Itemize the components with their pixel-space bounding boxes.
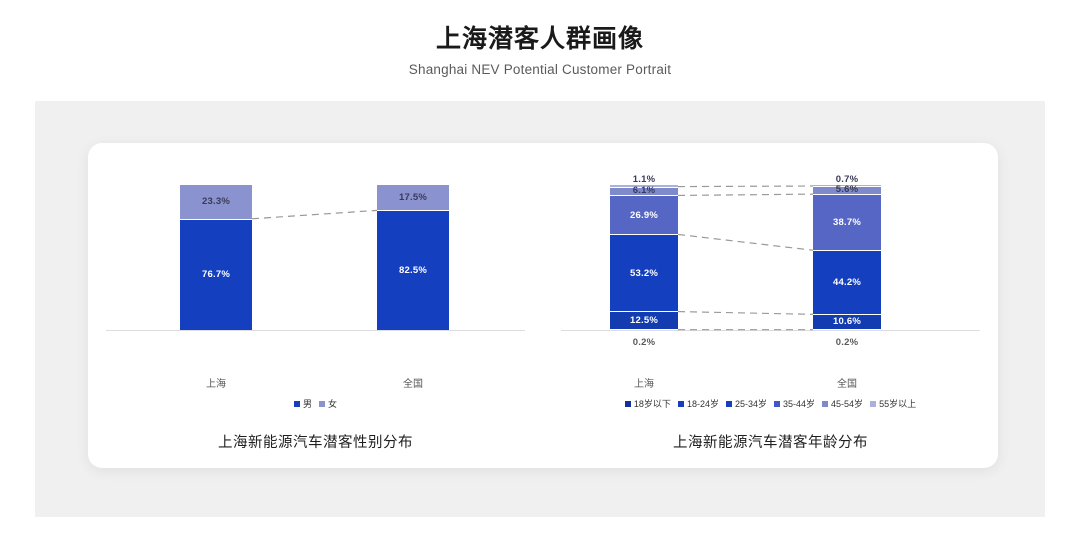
bar-segment-男[interactable]: 82.5% [377, 210, 449, 330]
legend-swatch-icon [726, 401, 732, 407]
x-axis-line [106, 330, 525, 331]
segment-value-label: 23.3% [202, 196, 230, 207]
legend-label: 35-44岁 [783, 397, 815, 410]
chart-age: 1.1%6.1%26.9%53.2%12.5%0.2%0.7%5.6%38.7%… [543, 143, 998, 468]
x-tick-上海: 上海 [206, 375, 226, 390]
page-header: 上海潜客人群画像 Shanghai NEV Potential Customer… [0, 0, 1080, 77]
legend-item-55岁以上[interactable]: 55岁以上 [870, 397, 916, 410]
legend-swatch-icon [774, 401, 780, 407]
bar-segment-18-24岁[interactable]: 12.5% [610, 311, 678, 329]
legend-item-25-34岁[interactable]: 25-34岁 [726, 397, 767, 410]
legend-item-45-54岁[interactable]: 45-54岁 [822, 397, 863, 410]
chart-gender: 23.3%76.7%17.5%82.5%上海全国男女上海新能源汽车潜客性别分布 [88, 143, 543, 468]
bar-segment-45-54岁[interactable]: 6.1% [610, 187, 678, 196]
segment-value-label: 44.2% [833, 277, 861, 288]
page-title: 上海潜客人群画像 [0, 24, 1080, 55]
segment-value-label: 38.7% [833, 217, 861, 228]
x-tick-labels: 上海全国 [88, 375, 543, 389]
bar-segment-男[interactable]: 76.7% [180, 219, 252, 330]
bar-segment-18岁以下[interactable]: 0.2% [610, 329, 678, 330]
segment-value-label: 10.6% [833, 316, 861, 327]
plot-area-age: 1.1%6.1%26.9%53.2%12.5%0.2%0.7%5.6%38.7%… [543, 185, 998, 330]
bar-segment-45-54岁[interactable]: 5.6% [813, 186, 881, 194]
stacked-bar-age-上海[interactable]: 1.1%6.1%26.9%53.2%12.5%0.2% [610, 185, 678, 330]
x-tick-全国: 全国 [837, 375, 857, 390]
segment-value-label: 17.5% [399, 192, 427, 203]
page-subtitle: Shanghai NEV Potential Customer Portrait [0, 62, 1080, 77]
chart-caption-age: 上海新能源汽车潜客年龄分布 [543, 431, 998, 452]
legend-label: 女 [328, 397, 337, 410]
charts-card: 23.3%76.7%17.5%82.5%上海全国男女上海新能源汽车潜客性别分布1… [88, 143, 998, 468]
bar-segment-女[interactable]: 17.5% [377, 185, 449, 210]
x-tick-全国: 全国 [403, 375, 423, 390]
bar-segment-18-24岁[interactable]: 10.6% [813, 314, 881, 329]
x-axis-line [561, 330, 980, 331]
segment-value-label: 53.2% [630, 268, 658, 279]
stacked-bar-age-全国[interactable]: 0.7%5.6%38.7%44.2%10.6%0.2% [813, 185, 881, 330]
legend-swatch-icon [625, 401, 631, 407]
bar-segment-25-34岁[interactable]: 44.2% [813, 250, 881, 314]
legend-item-男[interactable]: 男 [294, 397, 312, 410]
legend-label: 18岁以下 [634, 397, 671, 410]
legend-swatch-icon [678, 401, 684, 407]
legend-label: 18-24岁 [687, 397, 719, 410]
legend-item-18岁以下[interactable]: 18岁以下 [625, 397, 671, 410]
bar-segment-35-44岁[interactable]: 38.7% [813, 194, 881, 250]
bar-segment-35-44岁[interactable]: 26.9% [610, 195, 678, 234]
bar-segment-25-34岁[interactable]: 53.2% [610, 234, 678, 311]
legend-swatch-icon [319, 401, 325, 407]
legend-label: 男 [303, 397, 312, 410]
legend-gender: 男女 [88, 397, 543, 410]
legend-label: 25-34岁 [735, 397, 767, 410]
legend-label: 55岁以上 [879, 397, 916, 410]
stacked-bar-gender-上海[interactable]: 23.3%76.7% [180, 185, 252, 330]
chart-caption-gender: 上海新能源汽车潜客性别分布 [88, 431, 543, 452]
legend-item-女[interactable]: 女 [319, 397, 337, 410]
legend-age: 18岁以下18-24岁25-34岁35-44岁45-54岁55岁以上 [543, 397, 998, 410]
bar-segment-18岁以下[interactable]: 0.2% [813, 329, 881, 330]
bar-segment-女[interactable]: 23.3% [180, 185, 252, 219]
segment-value-label: 1.1% [633, 174, 655, 185]
segment-value-label: 0.2% [836, 337, 858, 348]
segment-value-label: 0.2% [633, 337, 655, 348]
page-root: 上海潜客人群画像 Shanghai NEV Potential Customer… [0, 0, 1080, 547]
stacked-bar-gender-全国[interactable]: 17.5%82.5% [377, 185, 449, 330]
legend-swatch-icon [822, 401, 828, 407]
x-tick-上海: 上海 [634, 375, 654, 390]
segment-value-label: 82.5% [399, 265, 427, 276]
segment-value-label: 12.5% [630, 315, 658, 326]
legend-swatch-icon [294, 401, 300, 407]
segment-value-label: 26.9% [630, 210, 658, 221]
x-tick-labels: 上海全国 [543, 375, 998, 389]
legend-swatch-icon [870, 401, 876, 407]
charts-container: 23.3%76.7%17.5%82.5%上海全国男女上海新能源汽车潜客性别分布1… [88, 143, 998, 468]
legend-item-18-24岁[interactable]: 18-24岁 [678, 397, 719, 410]
legend-item-35-44岁[interactable]: 35-44岁 [774, 397, 815, 410]
segment-value-label: 76.7% [202, 269, 230, 280]
plot-area-gender: 23.3%76.7%17.5%82.5% [88, 185, 543, 330]
legend-label: 45-54岁 [831, 397, 863, 410]
segment-value-label: 6.1% [633, 185, 655, 196]
